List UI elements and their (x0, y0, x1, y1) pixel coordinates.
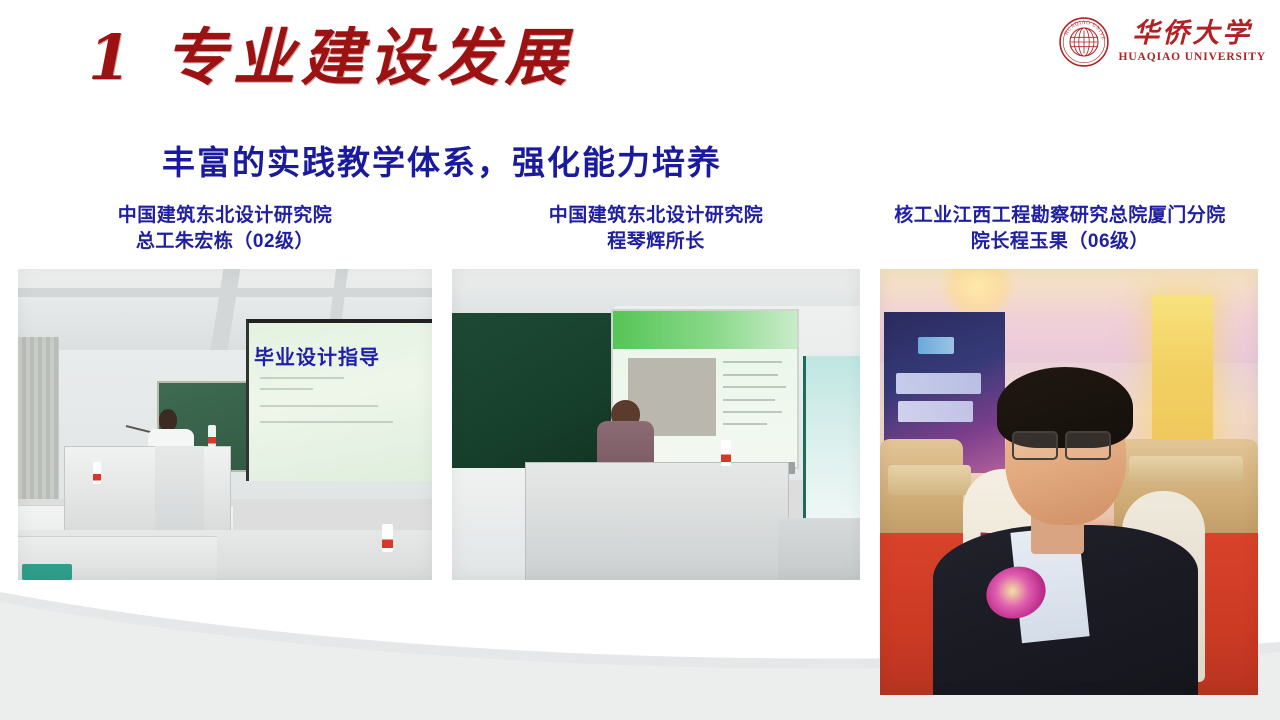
university-logo: HUAQIAO UNIVERSITY 华侨大学 HUAQIAO UNIVERSI… (1058, 16, 1266, 68)
logo-chinese-name: 华侨大学 (1132, 20, 1252, 47)
photo-classroom-lecture-male: 毕业设计指导 (18, 269, 432, 580)
caption-3-line-1: 核工业江西工程勘察研究总院厦门分院 (894, 205, 1226, 226)
huaqiao-university-seal-icon: HUAQIAO UNIVERSITY (1058, 16, 1110, 68)
caption-1-line-2: 总工朱宏栋（02级） (18, 229, 432, 255)
photo-caption-1: 中国建筑东北设计研究院 总工朱宏栋（02级） (18, 203, 432, 255)
caption-2-line-1: 中国建筑东北设计研究院 (549, 205, 764, 226)
photo-caption-3: 核工业江西工程勘察研究总院厦门分院 院长程玉果（06级） (846, 203, 1274, 255)
photo-classroom-lecture-female (452, 269, 860, 580)
caption-1-line-1: 中国建筑东北设计研究院 (118, 205, 333, 226)
caption-3-line-2: 院长程玉果（06级） (846, 229, 1274, 255)
photo-banquet-portrait-male (880, 269, 1258, 695)
slide-headline: 丰富的实践教学体系，强化能力培养 (0, 136, 884, 184)
logo-english-name: HUAQIAO UNIVERSITY (1118, 52, 1266, 64)
caption-2-line-2: 程琴辉所长 (452, 229, 860, 255)
presentation-slide: 1 专业建设发展 HUAQIAO UNIVERSITY 华侨大学 HUAQIAO… (0, 0, 1280, 720)
photo-caption-2: 中国建筑东北设计研究院 程琴辉所长 (452, 203, 860, 255)
page-title: 1 专业建设发展 (88, 22, 573, 94)
